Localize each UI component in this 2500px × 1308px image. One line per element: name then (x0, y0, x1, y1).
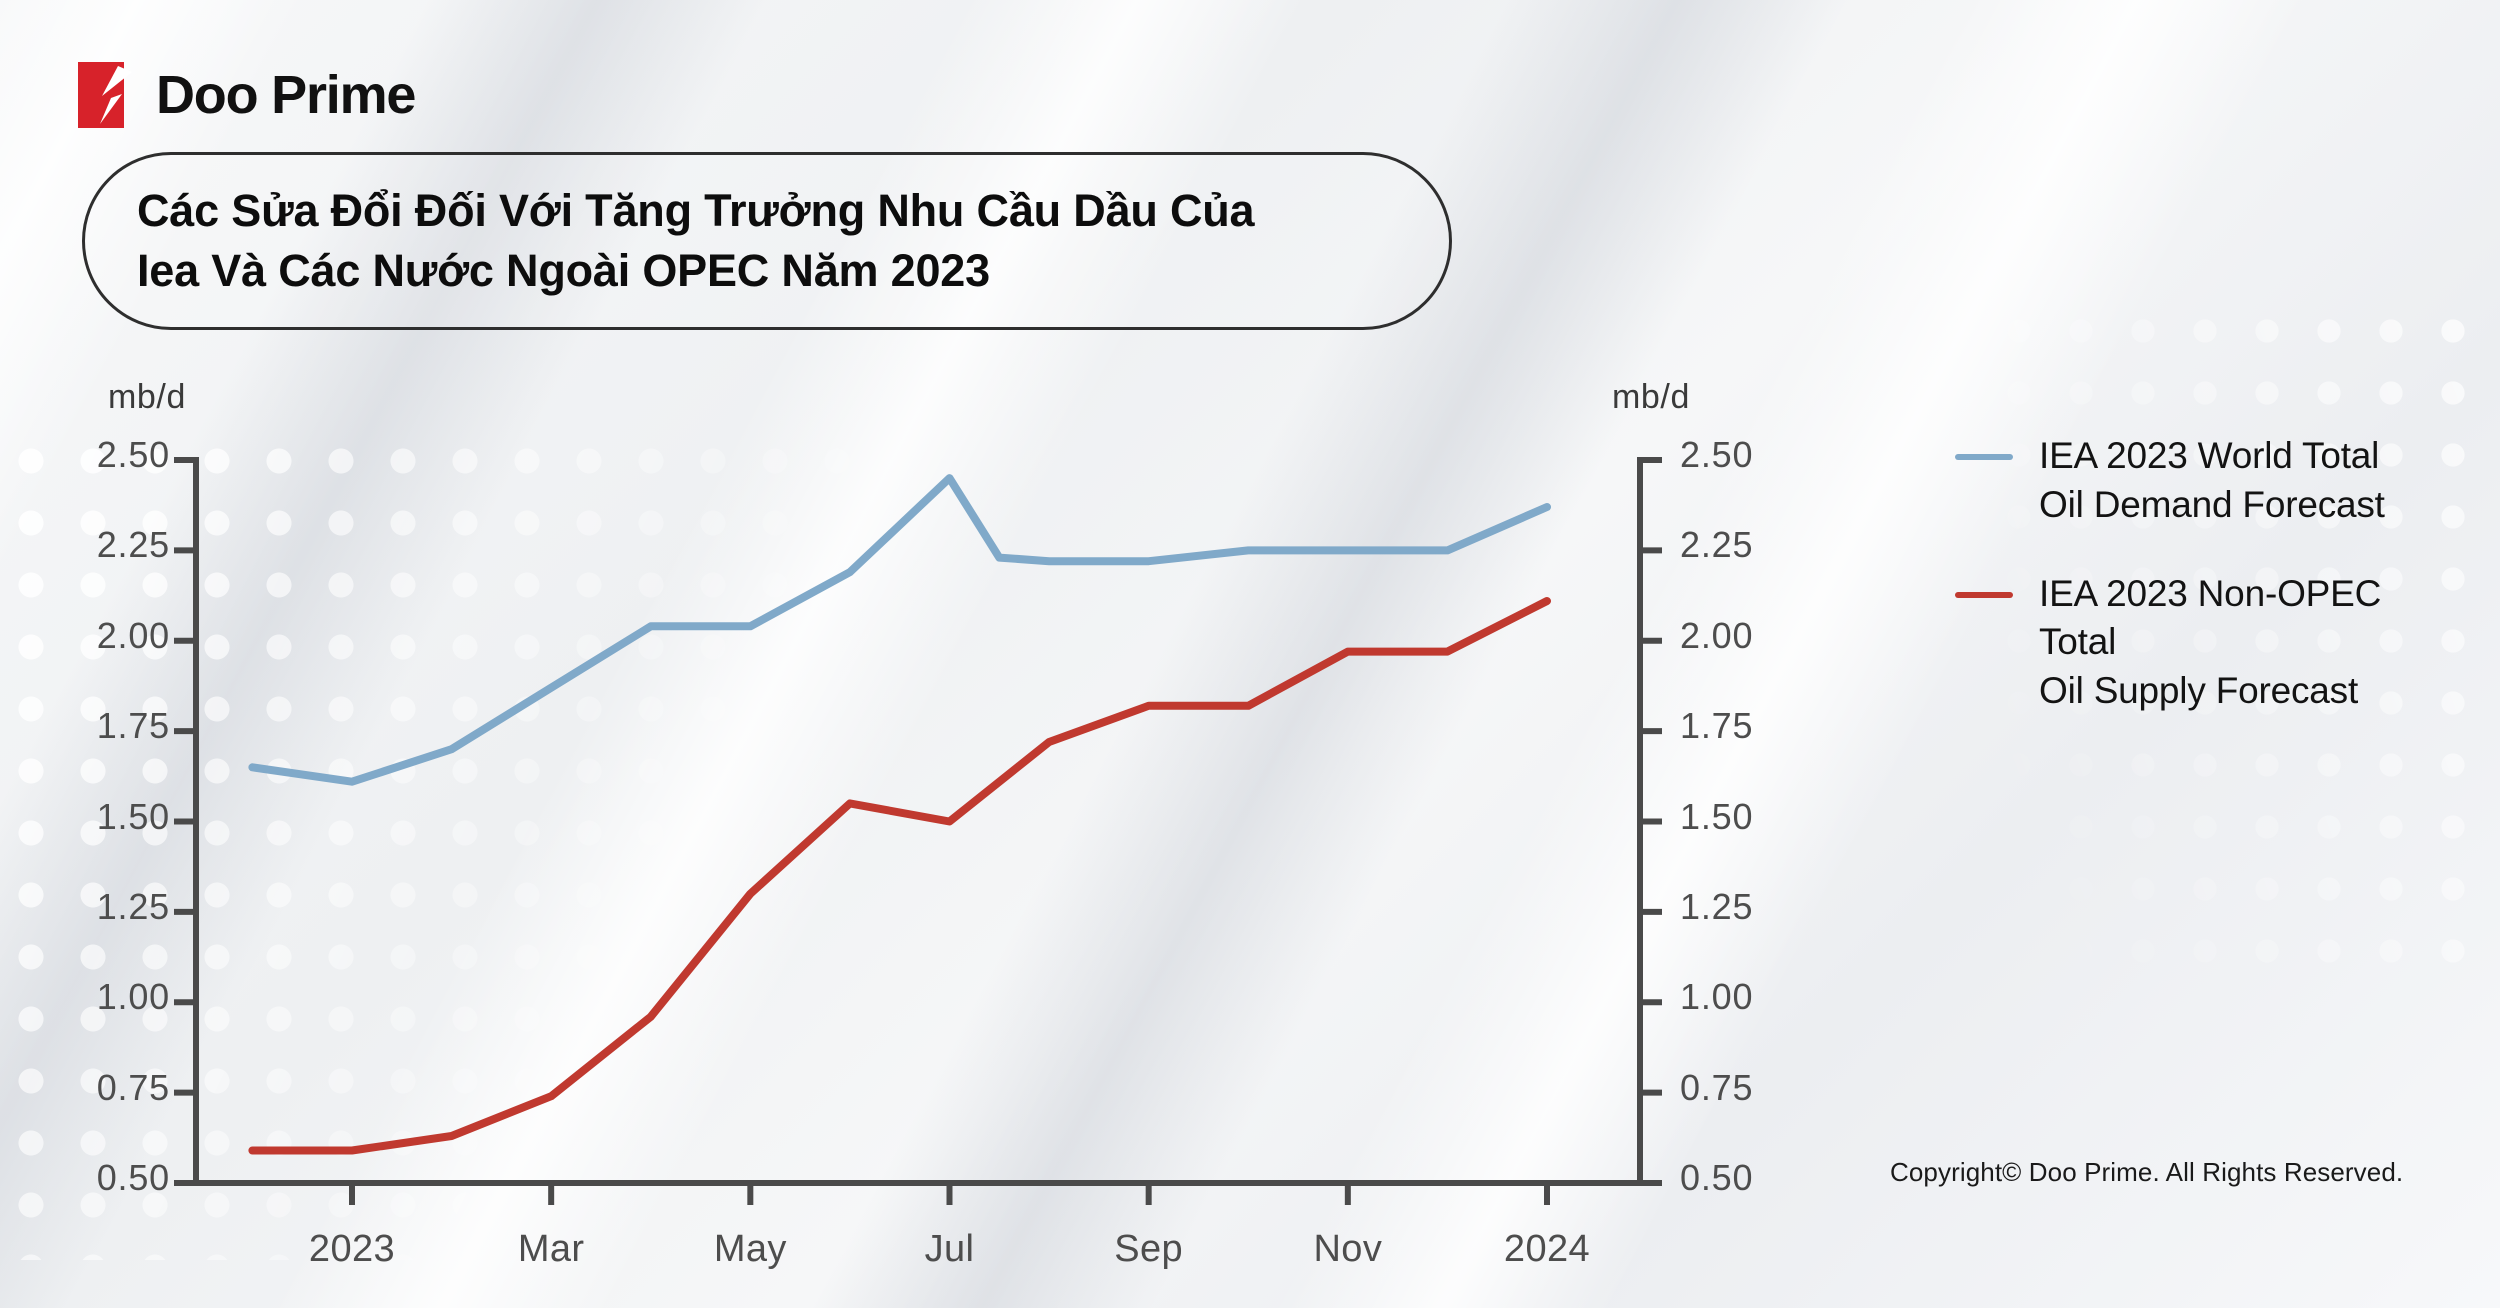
page-title: Các Sửa Đổi Đối Với Tăng Trưởng Nhu Cầu … (137, 181, 1254, 302)
brand-name: Doo Prime (156, 68, 415, 122)
chart-legend: IEA 2023 World Total Oil Demand Forecast… (1955, 432, 2465, 756)
page-title-line-2: Iea Và Các Nước Ngoài OPEC Năm 2023 (137, 241, 1254, 301)
infographic-page: Doo Prime Các Sửa Đổi Đối Với Tăng Trưởn… (0, 0, 2500, 1308)
page-title-line-1: Các Sửa Đổi Đối Với Tăng Trưởng Nhu Cầu … (137, 181, 1254, 241)
title-pill: Các Sửa Đổi Đối Với Tăng Trưởng Nhu Cầu … (82, 152, 1452, 330)
legend-item-demand[interactable]: IEA 2023 World Total Oil Demand Forecast (1955, 432, 2465, 530)
legend-label-supply-line-2: Oil Supply Forecast (2039, 667, 2465, 716)
legend-item-supply[interactable]: IEA 2023 Non-OPEC Total Oil Supply Forec… (1955, 570, 2465, 716)
legend-label-demand: IEA 2023 World Total Oil Demand Forecast (2039, 432, 2385, 530)
legend-swatch-supply (1955, 592, 2013, 598)
brand-logo: Doo Prime (78, 62, 415, 128)
legend-label-demand-line-2: Oil Demand Forecast (2039, 481, 2385, 530)
legend-label-supply-line-1: IEA 2023 Non-OPEC Total (2039, 570, 2465, 668)
legend-label-supply: IEA 2023 Non-OPEC Total Oil Supply Forec… (2039, 570, 2465, 716)
legend-swatch-demand (1955, 454, 2013, 460)
doo-prime-logo-icon (78, 62, 138, 128)
copyright-text: Copyright© Doo Prime. All Rights Reserve… (1890, 1157, 2403, 1188)
legend-label-demand-line-1: IEA 2023 World Total (2039, 432, 2385, 481)
